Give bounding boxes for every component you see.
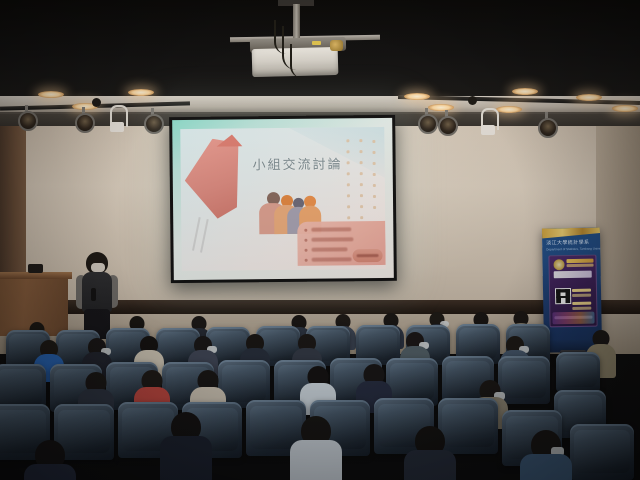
slide-streak-line [200, 219, 209, 253]
spotlight-icon [18, 109, 34, 128]
poster-subtitle-bar [567, 264, 594, 267]
attendee [160, 412, 212, 480]
poster-info-line [572, 289, 591, 292]
attendee [520, 430, 572, 480]
banner-subheading: Department of Statistics, Tamkang Univer… [546, 247, 600, 252]
banner-heading: 淡江大學統計學系 [546, 239, 600, 247]
auditorium-seat [556, 352, 600, 392]
poster-info-line [572, 302, 591, 305]
spotlight-icon [438, 114, 454, 133]
slide-title: 小組交流討論 [233, 153, 363, 173]
spotlight-icon [538, 116, 554, 135]
attendee [24, 440, 76, 480]
downlight-icon [512, 88, 538, 95]
event-poster [548, 255, 597, 328]
projector-indicator-icon [312, 41, 321, 45]
poster-info-line [572, 307, 591, 310]
auditorium-seat [570, 424, 634, 480]
poster-artwork [552, 312, 594, 325]
attendee [290, 416, 342, 480]
projector-lens-icon [330, 40, 343, 51]
ceiling-fixture-box [110, 122, 124, 132]
banner-gold-stripe [542, 228, 600, 239]
presenter [74, 252, 120, 338]
spotlight-icon [418, 112, 434, 131]
downlight-icon [38, 91, 64, 98]
downlight-icon [428, 104, 454, 111]
spotlight-icon [144, 112, 160, 131]
slide-bullet-pill [353, 249, 383, 262]
projection-screen: 小組交流討論 [169, 115, 397, 283]
ceiling-dome-icon [92, 98, 101, 107]
podium-surface [0, 272, 72, 279]
projector-cable [290, 44, 302, 78]
downlight-icon [404, 93, 430, 100]
face-mask-icon [91, 263, 105, 272]
slide-canvas: 小組交流討論 [180, 127, 385, 271]
poster-headline-bar [554, 271, 592, 279]
spotlight-icon [75, 111, 91, 130]
downlight-icon [612, 105, 638, 112]
downlight-icon [496, 106, 522, 113]
qr-code-icon [555, 288, 571, 304]
attendee [404, 426, 456, 480]
ceiling-fixture-box [481, 125, 495, 135]
slide-coral-polygon [184, 138, 239, 219]
poster-emblem-icon [553, 259, 564, 270]
microphone-icon [91, 288, 96, 301]
slide-streak-line [192, 217, 201, 251]
ceiling-dome-icon [468, 96, 477, 105]
slide-bullet-box [297, 221, 385, 266]
poster-title-bar [566, 259, 593, 263]
lecture-hall-scene: 小組交流討論 [0, 0, 640, 480]
presenter-torso [82, 272, 112, 312]
poster-info-line [572, 294, 591, 297]
projected-slide: 小組交流討論 [172, 118, 394, 280]
downlight-icon [128, 89, 154, 96]
downlight-icon [576, 94, 602, 101]
podium-device [28, 264, 43, 273]
slide-dot-grid [346, 139, 381, 221]
